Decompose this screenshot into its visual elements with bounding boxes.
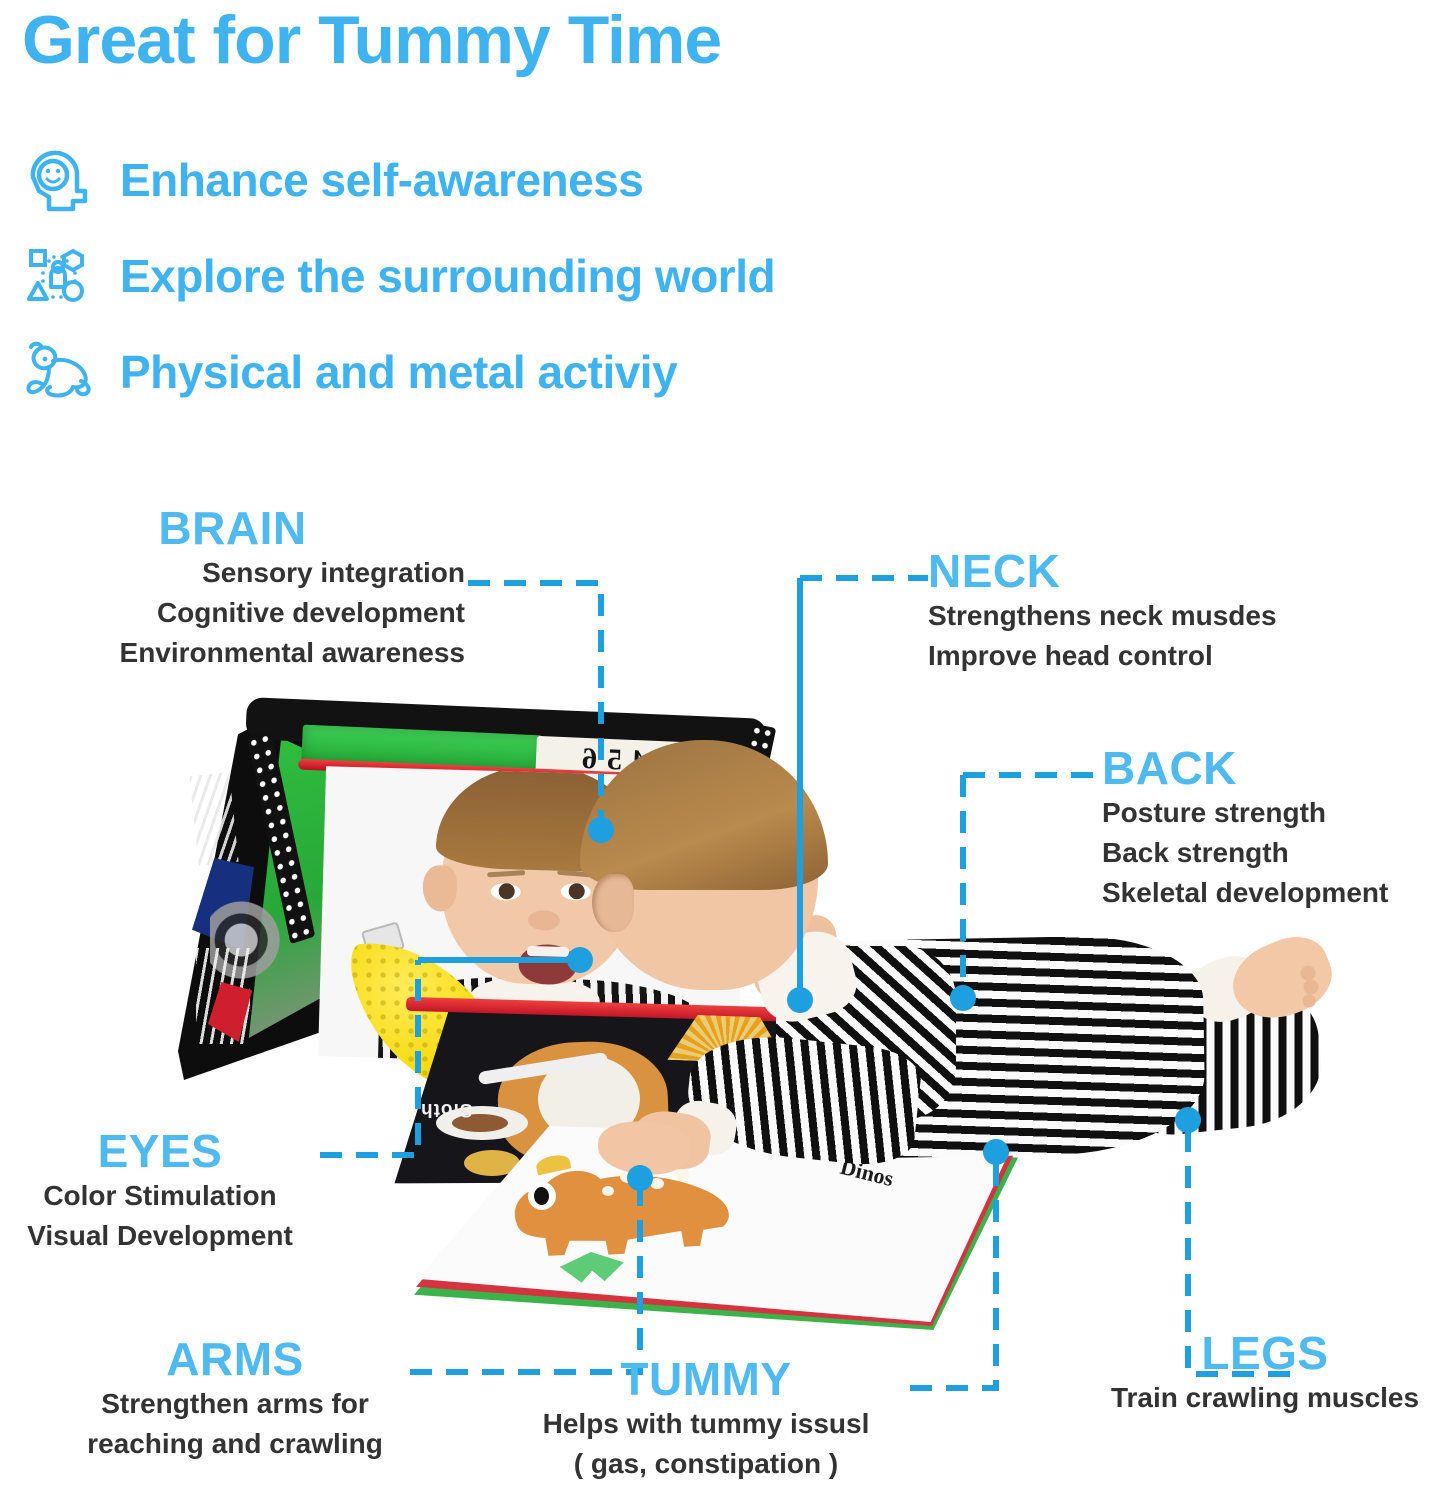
callout-title: LEGS xyxy=(1074,1330,1456,1376)
benefit-list: Enhance self-awareness Explore xyxy=(14,132,775,420)
callout-legs: LEGS Train crawling muscles xyxy=(1074,1330,1456,1418)
callout-line: ( gas, constipation ) xyxy=(500,1444,912,1484)
callout-line: Environmental awareness xyxy=(0,633,465,673)
callout-arms: ARMS Strengthen arms for reaching and cr… xyxy=(60,1336,410,1464)
callout-line: Strengthen arms for xyxy=(60,1384,410,1424)
reflection-ear xyxy=(422,865,457,912)
sloth-page-word: Sloth xyxy=(420,1098,473,1120)
callout-line: Sensory integration xyxy=(0,553,465,593)
explore-shapes-icon xyxy=(14,237,102,315)
callout-line: Posture strength xyxy=(1102,793,1388,833)
callout-lines: Color Stimulation Visual Development xyxy=(0,1176,320,1256)
list-item-label: Enhance self-awareness xyxy=(120,153,643,207)
list-item: Explore the surrounding world xyxy=(14,228,775,324)
dinosaur-spot xyxy=(602,1186,614,1196)
callout-line: Cognitive development xyxy=(0,593,465,633)
dinosaur-spot xyxy=(650,1178,664,1189)
baby-hair xyxy=(580,740,828,890)
callout-line: Back strength xyxy=(1102,833,1388,873)
callout-line: Skeletal development xyxy=(1102,873,1388,913)
callout-lines: Train crawling muscles xyxy=(1074,1378,1456,1418)
callout-brain: BRAIN Sensory integration Cognitive deve… xyxy=(0,505,465,672)
callout-line: reaching and crawling xyxy=(60,1424,410,1464)
callout-lines: Strengthens neck musdes Improve head con… xyxy=(928,596,1277,676)
callout-line: Train crawling muscles xyxy=(1074,1378,1456,1418)
callout-line: Helps with tummy issusl xyxy=(500,1404,912,1444)
callout-lines: Posture strength Back strength Skeletal … xyxy=(1102,793,1388,912)
callout-title: ARMS xyxy=(60,1336,410,1382)
callout-title: BRAIN xyxy=(0,505,465,551)
callout-line: Strengthens neck musdes xyxy=(928,596,1277,636)
list-item-label: Physical and metal activiy xyxy=(120,345,677,399)
callout-lines: Helps with tummy issusl ( gas, constipat… xyxy=(500,1404,912,1484)
infographic-canvas: Great for Tummy Time Enhance self-awaren… xyxy=(0,0,1456,1500)
callout-title: EYES xyxy=(0,1128,320,1174)
callout-line: Improve head control xyxy=(928,636,1277,676)
callout-line: Color Stimulation xyxy=(0,1176,320,1216)
baby-ear xyxy=(592,874,634,932)
list-item: Physical and metal activiy xyxy=(14,324,775,420)
crawling-baby-icon xyxy=(14,333,102,411)
callout-lines: Sensory integration Cognitive developmen… xyxy=(0,553,465,672)
callout-eyes: EYES Color Stimulation Visual Developmen… xyxy=(0,1128,320,1256)
callout-lines: Strengthen arms for reaching and crawlin… xyxy=(60,1384,410,1464)
callout-neck: NECK Strengthens neck musdes Improve hea… xyxy=(928,548,1277,676)
callout-title: BACK xyxy=(1102,745,1388,791)
baby-toes xyxy=(1296,964,1326,1010)
list-item: Enhance self-awareness xyxy=(14,132,775,228)
reflection-mouth xyxy=(518,944,577,986)
callout-tummy: TUMMY Helps with tummy issusl ( gas, con… xyxy=(500,1356,912,1484)
callout-line: Visual Development xyxy=(0,1216,320,1256)
callout-title: NECK xyxy=(928,548,1277,594)
callout-back: BACK Posture strength Back strength Skel… xyxy=(1102,745,1388,912)
callout-title: TUMMY xyxy=(500,1356,912,1402)
list-item-label: Explore the surrounding world xyxy=(120,249,775,303)
page-title: Great for Tummy Time xyxy=(22,6,721,74)
head-smiley-icon xyxy=(14,141,102,219)
